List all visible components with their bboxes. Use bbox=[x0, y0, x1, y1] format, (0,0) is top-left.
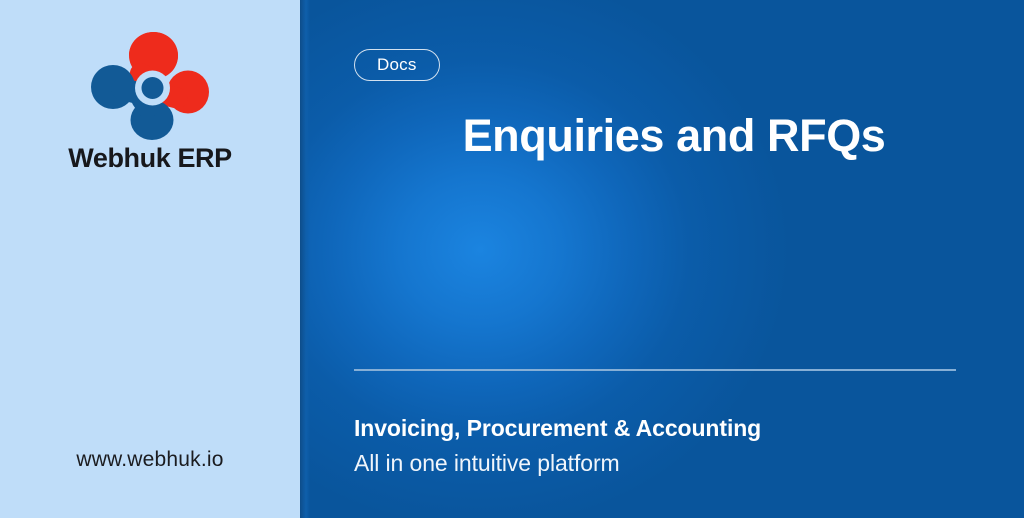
site-url[interactable]: www.webhuk.io bbox=[0, 448, 300, 472]
logo-container bbox=[0, 30, 300, 140]
hero-content: Docs Enquiries and RFQs Invoicing, Procu… bbox=[300, 0, 1024, 518]
molecule-logo-icon bbox=[91, 30, 209, 140]
brand-panel: Webhuk ERP www.webhuk.io bbox=[0, 0, 300, 518]
docs-badge[interactable]: Docs bbox=[354, 49, 440, 81]
hero-panel: Docs Enquiries and RFQs Invoicing, Procu… bbox=[300, 0, 1024, 518]
brand-name: Webhuk ERP bbox=[0, 143, 300, 174]
tagline: Invoicing, Procurement & Accounting bbox=[354, 415, 761, 442]
page-title: Enquiries and RFQs bbox=[354, 110, 994, 162]
subtagline: All in one intuitive platform bbox=[354, 450, 620, 477]
divider bbox=[354, 369, 956, 371]
share-card: Webhuk ERP www.webhuk.io Docs Enquiries … bbox=[0, 0, 1024, 518]
